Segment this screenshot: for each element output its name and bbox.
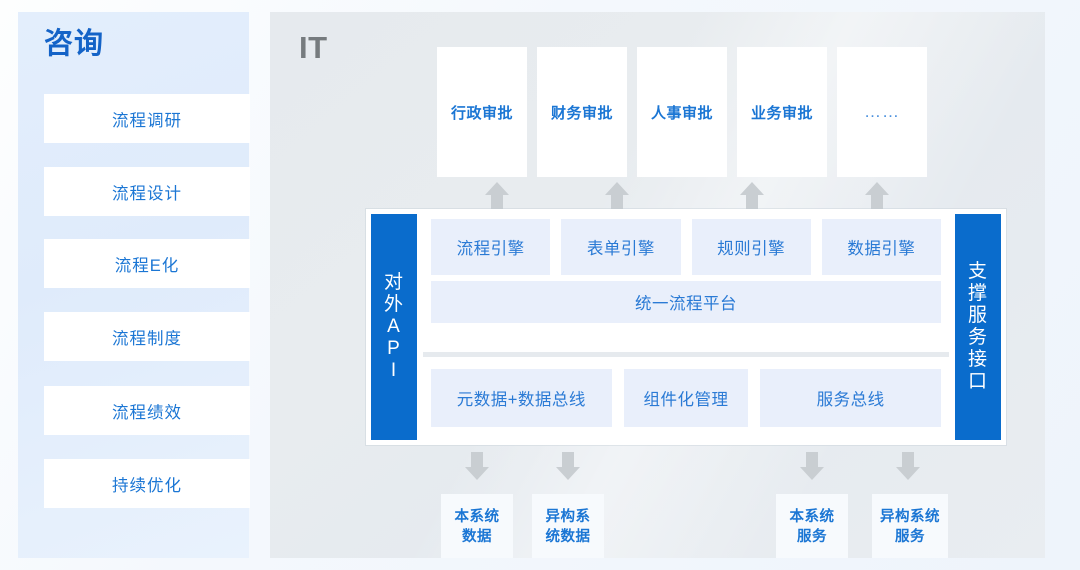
arrow-up-icon: [739, 182, 765, 210]
sidebar-item-label: 流程E化: [115, 252, 180, 276]
section-divider: [423, 352, 949, 357]
bottom-card-line1: 异构系统: [880, 509, 940, 525]
engine-box-1[interactable]: 表单引擎: [561, 219, 680, 275]
consulting-sidebar: 咨询 流程调研 流程设计 流程E化 流程制度 流程绩效 持续优化: [18, 12, 249, 558]
vbar-char: A: [387, 316, 401, 338]
vbar-char: P: [387, 338, 401, 360]
sidebar-item-label: 持续优化: [112, 472, 182, 496]
vbar-char: 接: [968, 349, 988, 371]
arrow-down-icon: [799, 452, 825, 480]
engine-box-0[interactable]: 流程引擎: [431, 219, 550, 275]
sidebar-title: 咨询: [44, 30, 104, 59]
arrow-up-icon: [604, 182, 630, 210]
engine-box-2[interactable]: 规则引擎: [692, 219, 811, 275]
bottom-card-1[interactable]: 异构系 统数据: [532, 494, 604, 558]
support-service-interface-bar[interactable]: 支 撑 服 务 接 口: [955, 214, 1001, 440]
bottom-card-text: 异构系统 服务: [880, 508, 940, 547]
sidebar-item-label: 流程制度: [112, 325, 182, 349]
bottom-card-line2: 服务: [797, 529, 827, 545]
service-box-2[interactable]: 服务总线: [760, 369, 941, 427]
sidebar-item-2[interactable]: 流程E化: [44, 239, 250, 288]
unified-platform-bar[interactable]: 统一流程平台: [431, 281, 941, 323]
vbar-char: 对: [384, 272, 404, 294]
platform-inner: 流程引擎 表单引擎 规则引擎 数据引擎 统一流程平台 元数据+数据总线 组件化管…: [423, 214, 949, 440]
vbar-char: 服: [968, 305, 988, 327]
bottom-card-0[interactable]: 本系统 数据: [441, 494, 513, 558]
vbar-char: 支: [968, 261, 988, 283]
app-card-label: 财务审批: [551, 102, 613, 123]
bottom-card-line1: 本系统: [790, 509, 835, 525]
engine-label: 规则引擎: [717, 235, 785, 259]
arrow-down-icon: [555, 452, 581, 480]
bottom-card-text: 本系统 服务: [790, 508, 835, 547]
engine-label: 表单引擎: [587, 235, 655, 259]
app-card-label: 业务审批: [751, 102, 813, 123]
sidebar-item-4[interactable]: 流程绩效: [44, 386, 250, 435]
app-card-4[interactable]: ……: [837, 47, 927, 177]
app-card-0[interactable]: 行政审批: [437, 47, 527, 177]
bottom-card-line2: 统数据: [546, 529, 591, 545]
arrow-up-icon: [484, 182, 510, 210]
engine-label: 流程引擎: [457, 235, 525, 259]
service-box-0[interactable]: 元数据+数据总线: [431, 369, 612, 427]
service-label: 服务总线: [817, 386, 885, 410]
bottom-card-line1: 本系统: [455, 509, 500, 525]
sidebar-item-3[interactable]: 流程制度: [44, 312, 250, 361]
bottom-card-line2: 服务: [895, 529, 925, 545]
bottom-card-2[interactable]: 本系统 服务: [776, 494, 848, 558]
vbar-char: 外: [384, 294, 404, 316]
engine-label: 数据引擎: [847, 235, 915, 259]
app-card-label: ……: [864, 102, 900, 122]
service-row: 元数据+数据总线 组件化管理 服务总线: [431, 369, 941, 427]
bottom-card-text: 异构系 统数据: [546, 508, 591, 547]
sidebar-item-label: 流程设计: [112, 180, 182, 204]
process-platform: 对 外 A P I 支 撑 服 务 接 口 流程引擎 表单引擎 规则引擎 数据引: [366, 209, 1006, 445]
it-architecture-panel: IT 行政审批 财务审批 人事审批 业务审批 …… 对 外 A P I: [270, 12, 1045, 558]
engine-box-3[interactable]: 数据引擎: [822, 219, 941, 275]
arrow-down-icon: [895, 452, 921, 480]
app-card-3[interactable]: 业务审批: [737, 47, 827, 177]
sidebar-item-1[interactable]: 流程设计: [44, 167, 250, 216]
sidebar-item-5[interactable]: 持续优化: [44, 459, 250, 508]
sidebar-item-label: 流程调研: [112, 107, 182, 131]
bottom-card-line2: 数据: [462, 529, 492, 545]
bottom-card-3[interactable]: 异构系统 服务: [872, 494, 948, 558]
app-card-label: 行政审批: [451, 102, 513, 123]
service-box-1[interactable]: 组件化管理: [624, 369, 749, 427]
vbar-char: 务: [968, 327, 988, 349]
sidebar-item-0[interactable]: 流程调研: [44, 94, 250, 143]
vbar-char: 口: [968, 371, 988, 393]
it-label: IT: [299, 32, 328, 63]
diagram-canvas: 咨询 流程调研 流程设计 流程E化 流程制度 流程绩效 持续优化 IT 行政审批…: [0, 0, 1080, 570]
service-label: 组件化管理: [643, 386, 728, 410]
bottom-card-line1: 异构系: [546, 509, 591, 525]
unified-platform-label: 统一流程平台: [635, 290, 737, 314]
vbar-char: I: [391, 360, 397, 382]
app-card-label: 人事审批: [651, 102, 713, 123]
app-card-2[interactable]: 人事审批: [637, 47, 727, 177]
service-label: 元数据+数据总线: [457, 386, 586, 410]
arrow-down-icon: [464, 452, 490, 480]
vbar-char: 撑: [968, 283, 988, 305]
sidebar-item-label: 流程绩效: [112, 399, 182, 423]
arrow-up-icon: [864, 182, 890, 210]
bottom-card-text: 本系统 数据: [455, 508, 500, 547]
app-card-1[interactable]: 财务审批: [537, 47, 627, 177]
external-api-bar[interactable]: 对 外 A P I: [371, 214, 417, 440]
engine-row: 流程引擎 表单引擎 规则引擎 数据引擎: [431, 219, 941, 275]
